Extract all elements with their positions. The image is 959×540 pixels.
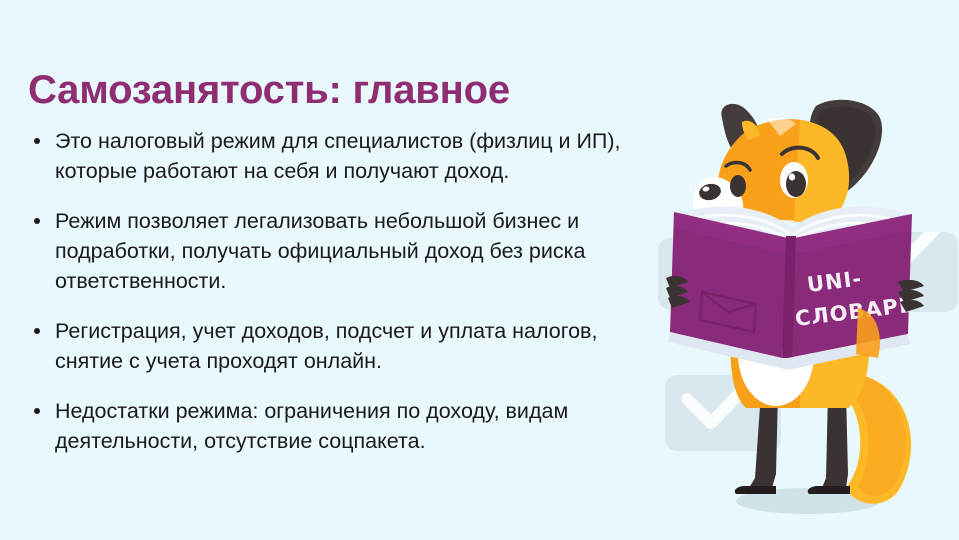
- bullet-dot-icon: [34, 218, 40, 224]
- list-item-text: Недостатки режима: ограничения по доходу…: [55, 399, 568, 453]
- list-item: Режим позволяет легализовать небольшой б…: [28, 206, 648, 296]
- fox-paw-left: [666, 276, 690, 308]
- list-item: Регистрация, учет доходов, подсчет и упл…: [28, 316, 648, 376]
- list-item-text: Режим позволяет легализовать небольшой б…: [55, 209, 585, 293]
- bullet-dot-icon: [34, 138, 40, 144]
- fox-foot-right: [808, 486, 850, 494]
- fox-eye-left: [730, 175, 746, 197]
- list-item: Недостатки режима: ограничения по доходу…: [28, 396, 648, 456]
- bullet-list: Это налоговый режим для специалистов (фи…: [28, 126, 648, 456]
- fox-foot-left: [735, 486, 776, 494]
- list-item-text: Регистрация, учет доходов, подсчет и упл…: [55, 319, 597, 373]
- list-item: Это налоговый режим для специалистов (фи…: [28, 126, 648, 186]
- bullet-dot-icon: [34, 408, 40, 414]
- slide-canvas: Самозанятость: главное Это налоговый реж…: [0, 0, 959, 540]
- bullet-dot-icon: [34, 328, 40, 334]
- page-title: Самозанятость: главное: [28, 68, 510, 113]
- list-item-text: Это налоговый режим для специалистов (фи…: [55, 129, 621, 183]
- fox-reading-book-illustration: UNI- СЛОВАРЬ: [660, 96, 959, 540]
